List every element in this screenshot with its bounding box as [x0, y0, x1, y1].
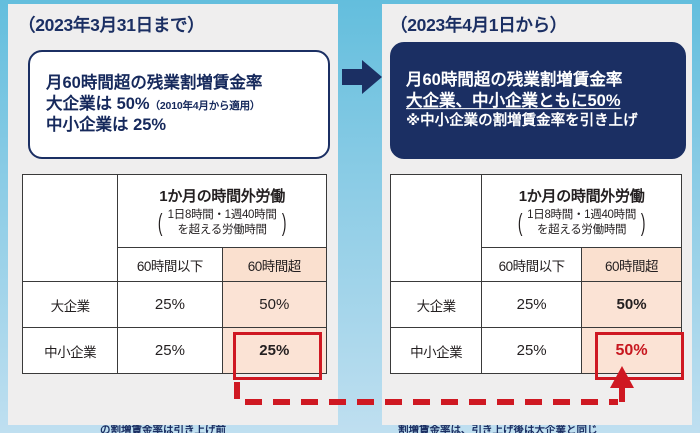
table-corner-cell	[23, 175, 118, 282]
table-group-header-title: 1か月の時間外労働	[118, 185, 326, 206]
bottom-caption-strip: の割増賃金率は引き上げ前 割増賃金率は、引き上げ後は大企業と同じ	[0, 425, 700, 433]
table-corner-cell	[391, 175, 482, 282]
table-group-header-sub: 1日8時間・1週40時間 を超える労働時間	[527, 208, 636, 237]
dashed-up-arrow-icon	[0, 330, 700, 410]
table-row: 大企業 25% 50%	[23, 282, 327, 328]
after-callout-box: 月60時間超の残業割増賃金率 大企業、中小企業ともに50% ※中小企業の割増賃金…	[390, 42, 686, 159]
after-callout-line-3: ※中小企業の割増賃金率を引き上げ	[406, 113, 670, 132]
before-callout-line-3: 中小企業は 25%	[46, 115, 314, 136]
after-callout-line-2: 大企業、中小企業ともに50%	[406, 91, 670, 112]
table-col-header-over: 60時間超	[582, 248, 682, 282]
table-group-header-sub: 1日8時間・1週40時間 を超える労働時間	[168, 208, 277, 237]
table-group-header-sub-line-2: を超える労働時間	[537, 224, 626, 236]
bracket-close-icon: )	[281, 213, 286, 233]
bracket-open-icon: (	[518, 213, 523, 233]
before-callout-box: 月60時間超の残業割増賃金率 大企業は 50%（2010年4月から適用） 中小企…	[28, 50, 330, 159]
table-group-header: 1か月の時間外労働 ( 1日8時間・1週40時間 を超える労働時間 )	[118, 175, 327, 248]
after-caption: 割増賃金率は、引き上げ後は大企業と同じ	[398, 425, 598, 433]
bracket-open-icon: (	[158, 213, 163, 233]
table-header-row-group: 1か月の時間外労働 ( 1日8時間・1週40時間 を超える労働時間 )	[23, 175, 327, 248]
bracket-close-icon: )	[641, 213, 646, 233]
before-callout-line-2-note: （2010年4月から適用）	[150, 100, 261, 112]
before-caption: の割増賃金率は引き上げ前	[100, 425, 226, 433]
table-col-header-over: 60時間超	[222, 248, 326, 282]
table-col-header-under: 60時間以下	[118, 248, 222, 282]
table-cell-under-60: 25%	[482, 282, 582, 328]
table-group-header-sub-line-2: を超える労働時間	[177, 224, 266, 236]
before-callout-line-2-main: 大企業は 50%	[46, 95, 150, 113]
table-cell-under-60: 25%	[118, 282, 222, 328]
table-cell-over-60: 50%	[582, 282, 682, 328]
table-group-header-sub-line-1: 1日8時間・1週40時間	[168, 209, 277, 221]
table-group-header: 1か月の時間外労働 ( 1日8時間・1週40時間 を超える労働時間 )	[482, 175, 682, 248]
before-callout-line-1: 月60時間超の残業割増賃金率	[46, 72, 314, 93]
table-row-label: 大企業	[391, 282, 482, 328]
table-row: 大企業 25% 50%	[391, 282, 682, 328]
table-header-row-group: 1か月の時間外労働 ( 1日8時間・1週40時間 を超える労働時間 )	[391, 175, 682, 248]
table-group-header-sub-line-1: 1日8時間・1週40時間	[527, 209, 636, 221]
table-col-header-under: 60時間以下	[482, 248, 582, 282]
table-cell-over-60: 50%	[222, 282, 326, 328]
before-panel-heading: （2023年3月31日まで）	[18, 12, 204, 37]
before-callout-line-2: 大企業は 50%（2010年4月から適用）	[46, 94, 314, 115]
after-callout-line-1: 月60時間超の残業割増賃金率	[406, 70, 670, 91]
table-row-label: 大企業	[23, 282, 118, 328]
after-panel-heading: （2023年4月1日から）	[390, 12, 567, 37]
right-arrow-icon	[342, 60, 382, 94]
table-group-header-title: 1か月の時間外労働	[482, 185, 681, 206]
